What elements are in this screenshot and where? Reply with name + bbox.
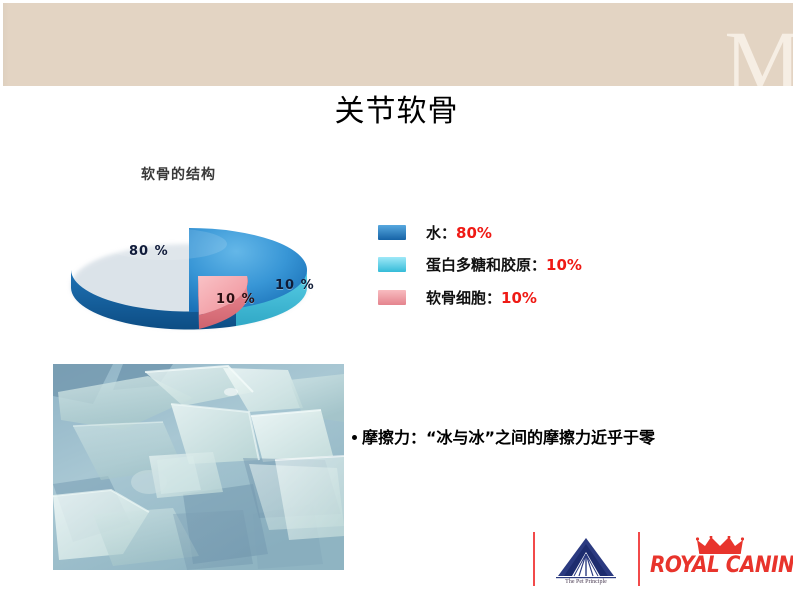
- slide-canvas: M 关节软骨 软骨的结构: [0, 0, 793, 595]
- royal-canin-logo: ROYAL CANIN: [650, 536, 790, 584]
- pet-principle-logo: The Pet Principle: [552, 534, 620, 586]
- cartilage-structure-chart: 软骨的结构: [53, 150, 393, 345]
- header-band: M: [3, 3, 793, 86]
- legend-value-proteoglycan: 10%: [546, 256, 582, 274]
- header-band-edge: [3, 3, 9, 86]
- legend-swatch-blue-icon: [378, 225, 406, 240]
- bullet-block: 摩擦力：“冰与冰”之间的摩擦力近乎于零: [352, 426, 752, 450]
- chart-title: 软骨的结构: [141, 164, 216, 184]
- ice-photo-svg: [53, 364, 344, 570]
- legend-value-chondrocyte: 10%: [501, 289, 537, 307]
- page-title: 关节软骨: [0, 94, 793, 130]
- legend-label-chondrocyte: 软骨细胞：10%: [426, 287, 537, 308]
- legend-item-chondrocyte: 软骨细胞：10%: [378, 280, 537, 314]
- pie-label-chondrocyte: 10 %: [216, 292, 256, 307]
- legend-swatch-pink-icon: [378, 290, 406, 305]
- pie-chart-graphic: 80 % 10 % 10 %: [61, 208, 341, 338]
- legend-value-water: 80%: [456, 224, 492, 242]
- bullet-item-friction: 摩擦力：“冰与冰”之间的摩擦力近乎于零: [352, 426, 752, 450]
- legend-label-chondrocyte-text: 软骨细胞：: [426, 289, 501, 307]
- pie-label-proteoglycan: 10 %: [275, 278, 315, 293]
- bullet-dot-icon: [352, 435, 357, 440]
- legend-label-proteoglycan-text: 蛋白多糖和胶原：: [426, 256, 546, 274]
- pie-label-water: 80 %: [129, 244, 169, 259]
- chart-legend: 水：80% 蛋白多糖和胶原：10% 软骨细胞：10%: [378, 215, 678, 330]
- pie-chart-svg: [61, 208, 341, 338]
- footer-divider-left: [533, 532, 535, 586]
- footer-divider-right: [638, 532, 640, 586]
- legend-label-water: 水：80%: [426, 222, 492, 243]
- legend-item-water: 水：80%: [378, 215, 492, 249]
- royal-canin-wordmark: ROYAL CANIN: [650, 551, 790, 578]
- legend-swatch-cyan-icon: [378, 257, 406, 272]
- legend-label-proteoglycan: 蛋白多糖和胶原：10%: [426, 254, 582, 275]
- legend-label-water-text: 水：: [426, 224, 456, 242]
- legend-item-proteoglycan: 蛋白多糖和胶原：10%: [378, 247, 582, 281]
- bullet-item-friction-text: 摩擦力：“冰与冰”之间的摩擦力近乎于零: [362, 428, 655, 447]
- m-watermark-logo: M: [725, 21, 793, 86]
- ice-blocks-photo: [53, 364, 344, 570]
- footer-logos: The Pet Principle ROYAL CANIN: [525, 528, 793, 590]
- pet-principle-caption: The Pet Principle: [552, 578, 620, 586]
